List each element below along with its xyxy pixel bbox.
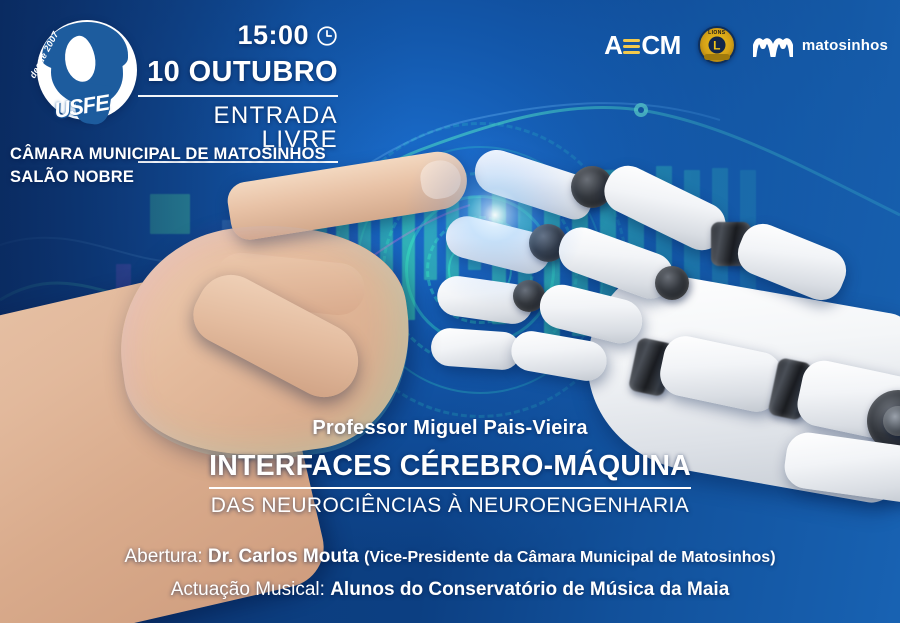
venue-line-2: SALÃO NOBRE [10, 166, 430, 189]
poster-canvas: USFE desde 2007 15:00 10 OUTUBRO ENTRADA… [0, 0, 900, 623]
talk-subtitle: DAS NEUROCIÊNCIAS À NEUROENGENHARIA [211, 494, 689, 517]
venue-line-1: CÂMARA MUNICIPAL DE MATOSINHOS [10, 143, 430, 166]
date-block: 15:00 10 OUTUBRO ENTRADA LIVRE [138, 22, 338, 163]
talk-subtitle-block: DAS NEUROCIÊNCIAS À NEUROENGENHARIA [0, 494, 900, 518]
aecm-logo[interactable]: A CM [604, 32, 681, 58]
talk-title: INTERFACES CÉREBRO-MÁQUINA [209, 450, 691, 489]
credit-row-opening: Abertura: Dr. Carlos Mouta (Vice-Preside… [0, 540, 900, 573]
mm-wave-mark [753, 34, 793, 57]
credit-role-opening: (Vice-Presidente da Câmara Municipal de … [364, 549, 775, 566]
credit-name-music: Alunos do Conservatório de Música da Mai… [330, 579, 729, 600]
date-divider-top [138, 95, 338, 97]
sponsor-logos: A CM LIONS L matosinhos [604, 26, 888, 64]
usfe-logo[interactable]: USFE desde 2007 [18, 12, 136, 130]
credits-block: Abertura: Dr. Carlos Mouta (Vice-Preside… [0, 540, 900, 607]
credit-row-music: Actuação Musical: Alunos do Conservatóri… [0, 573, 900, 606]
wave-icon [623, 36, 640, 55]
aecm-letter-a: A [604, 32, 622, 58]
talk-title-block: INTERFACES CÉREBRO-MÁQUINA [0, 450, 900, 489]
speaker-name: Professor Miguel Pais-Vieira [0, 417, 900, 440]
lions-initial: L [708, 37, 725, 54]
event-date: 10 OUTUBRO [138, 58, 338, 87]
clock-icon [316, 25, 338, 47]
credit-name-opening: Dr. Carlos Mouta [208, 546, 359, 567]
lions-base-bar [704, 54, 730, 60]
speaker-block: Professor Miguel Pais-Vieira [0, 417, 900, 440]
credit-lead-opening: Abertura: [124, 546, 202, 567]
lions-club-emblem[interactable]: LIONS L [698, 26, 736, 64]
event-time-row: 15:00 [138, 22, 338, 49]
event-time: 15:00 [237, 22, 309, 49]
matosinhos-label: matosinhos [802, 37, 888, 54]
matosinhos-logo[interactable]: matosinhos [753, 34, 888, 57]
aecm-letters-cm: CM [641, 32, 680, 58]
venue-block: CÂMARA MUNICIPAL DE MATOSINHOS SALÃO NOB… [10, 143, 430, 190]
lions-wordmark: LIONS [708, 30, 725, 36]
credit-lead-music: Actuação Musical: [171, 579, 325, 600]
